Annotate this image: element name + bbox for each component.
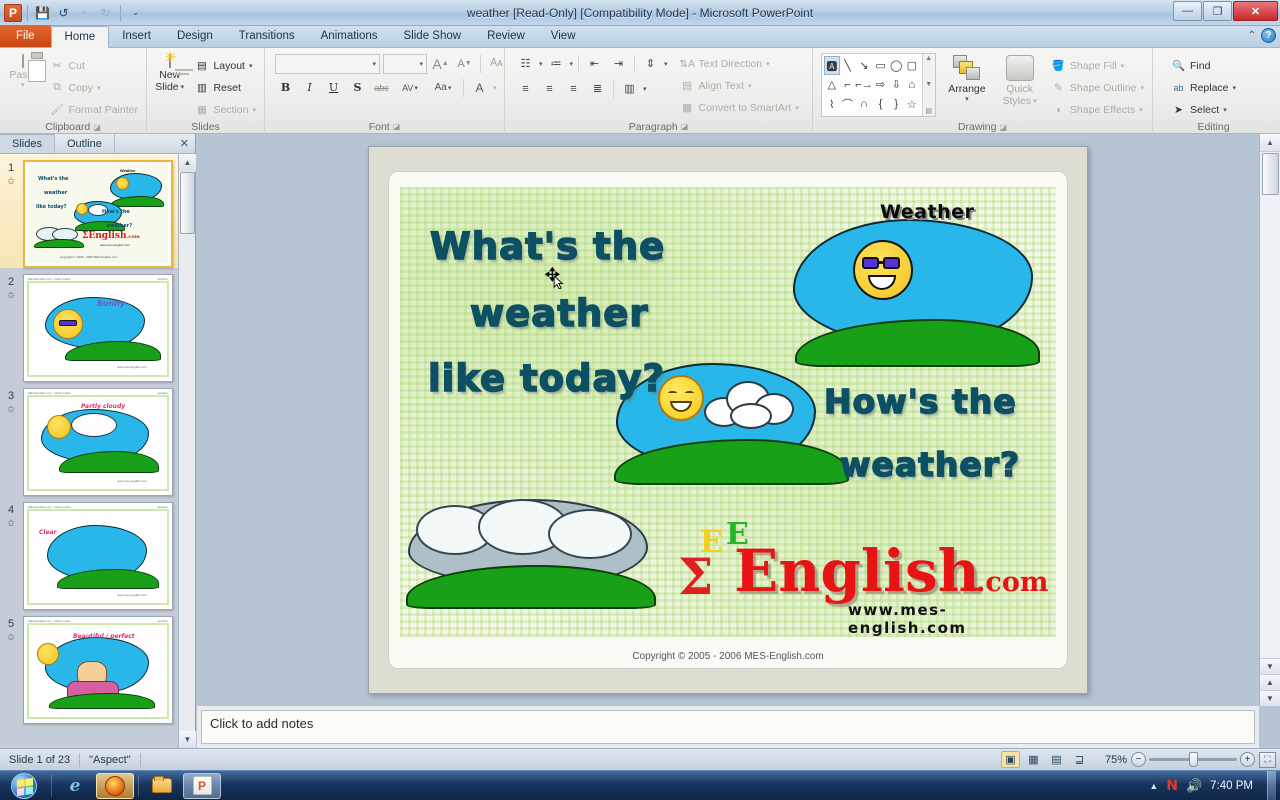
ribbon: Paste ▾ ✂ Cut ⧉ Copy ▾ 🖌 Format <box>0 48 1280 134</box>
font-size-combobox[interactable]: ▾ <box>383 54 427 74</box>
tab-slide-show[interactable]: Slide Show <box>391 25 475 47</box>
section-icon: ▦ <box>194 102 209 117</box>
ribbon-group-font: ▾ ▾ A▲ A▼ 🗛 B I U S abc <box>264 48 504 134</box>
notes-input[interactable]: Click to add notes <box>201 710 1255 744</box>
undo-icon[interactable]: ↺ <box>54 3 73 22</box>
slide-content[interactable]: Weather <box>400 187 1056 637</box>
shape-flowchart-icon[interactable]: ⌂ <box>904 75 920 94</box>
slide-thumbnail-3[interactable]: 3 ✩ MES-English.com - Flash Cardsweather… <box>0 382 179 496</box>
chevron-down-icon[interactable]: ▾ <box>252 106 256 114</box>
ribbon-group-paragraph: ☷ ▾ ≔ ▾ ⇤ ⇥ ⇕ ▾ ≡ ≡ ≡ <box>504 48 812 134</box>
slide-surface[interactable]: Weather <box>388 171 1068 669</box>
chevron-down-icon[interactable]: ▾ <box>21 81 25 89</box>
replace-button[interactable]: ab Replace ▾ <box>1167 77 1240 98</box>
tab-design[interactable]: Design <box>164 25 226 47</box>
white-cloud-icon <box>700 375 800 433</box>
scroll-down-icon[interactable]: ▼ <box>1260 658 1280 674</box>
align-text-icon: ▤ <box>680 78 695 93</box>
reading-view-button[interactable]: ▤ <box>1047 751 1066 768</box>
chevron-down-icon[interactable]: ▾ <box>766 60 770 68</box>
slide-number: 1 <box>8 162 14 174</box>
align-left-button[interactable]: ≡ <box>515 78 536 99</box>
group-label-drawing: Drawing ◪ <box>817 120 1148 134</box>
chevron-down-icon[interactable]: ▾ <box>1233 84 1237 92</box>
font-color-button[interactable]: A <box>469 77 490 98</box>
shapes-gallery-scrollbar[interactable]: ▲ ▼ ▤ <box>922 54 935 116</box>
slides-pane-tabs: Slides Outline ✕ <box>0 134 195 154</box>
save-icon[interactable]: 💾 <box>33 3 52 22</box>
dialog-launcher-icon[interactable]: ◪ <box>999 123 1007 132</box>
internet-explorer-icon: e <box>70 776 81 796</box>
smartart-icon: ▩ <box>680 100 695 115</box>
shape-textbox-icon[interactable]: 🅰 <box>824 56 840 75</box>
dialog-launcher-icon[interactable]: ◪ <box>681 122 689 131</box>
customize-qat-icon[interactable]: ⌄ <box>126 3 145 22</box>
dialog-launcher-icon[interactable]: ◪ <box>93 123 101 132</box>
ribbon-group-clipboard: Paste ▾ ✂ Cut ⧉ Copy ▾ 🖌 Format <box>0 48 146 134</box>
shape-triangle-icon[interactable]: △ <box>824 75 840 94</box>
chevron-down-icon[interactable]: ▾ <box>570 60 574 68</box>
shape-effects-button[interactable]: ◖ Shape Effects ▾ <box>1047 99 1148 120</box>
slide-thumbnail-4[interactable]: 4 ✩ MES-English.com - Flash Cardsweather… <box>0 496 179 610</box>
move-cursor-icon <box>545 267 567 289</box>
thumbnail-meta: 5 ✩ <box>2 616 20 724</box>
slide-subtitle-line-2[interactable]: weather? <box>840 445 1020 484</box>
shapes-gallery[interactable]: 🅰 ╲ ↘ ▭ ◯ ▢ △ ⌐ ⌐→ ⇨ ⇩ ⌂ ⌇ ⌒ ∩ <box>821 53 936 117</box>
show-desktop-button[interactable] <box>1267 771 1276 800</box>
group-label-font: Font ◪ <box>269 119 500 134</box>
slide-title-line-2[interactable]: weather <box>470 292 649 335</box>
status-bar-right: ▣ ▦ ▤ ⊒ 75% − + ⛶ <box>1001 751 1276 768</box>
numbering-button[interactable]: ≔ <box>546 53 567 74</box>
thumbnail-meta: 2 ✩ <box>2 274 20 382</box>
shape-line-icon[interactable]: ╲ <box>840 56 856 75</box>
windows-start-orb-icon <box>11 773 37 799</box>
taskbar-item-windows-explorer[interactable] <box>143 773 181 799</box>
paste-button[interactable]: Paste ▾ <box>4 53 42 89</box>
dialog-launcher-icon[interactable]: ◪ <box>393 122 401 131</box>
thumbnail-meta: 4 ✩ <box>2 502 20 610</box>
mes-english-logo: E E Σ English .com www.mes-english.com <box>676 519 1046 619</box>
group-label-editing: Editing <box>1157 120 1270 134</box>
previous-slide-icon[interactable]: ▲ <box>1260 674 1280 690</box>
group-label-clipboard: Clipboard ◪ <box>4 120 142 134</box>
quick-styles-icon <box>1006 55 1034 81</box>
slide-thumbnail-list: 1 ✩ What's the weather like today? Weath… <box>0 154 179 748</box>
justify-button[interactable]: ≣ <box>587 78 608 99</box>
slide-frame: Weather <box>368 146 1088 694</box>
find-button[interactable]: 🔍 Find <box>1167 55 1240 76</box>
shape-fill-button[interactable]: 🪣 Shape Fill ▾ <box>1047 55 1148 76</box>
strikethrough-button[interactable]: abc <box>371 77 392 98</box>
animation-star-icon: ✩ <box>7 632 15 643</box>
chevron-down-icon[interactable]: ▾ <box>1223 106 1227 114</box>
tab-review[interactable]: Review <box>474 25 538 47</box>
copy-button[interactable]: ⧉ Copy ▾ <box>46 77 142 98</box>
logo-dotcom-text: .com <box>976 567 1048 598</box>
logo-sigma: Σ <box>678 547 713 606</box>
quick-styles-button[interactable]: Quick Styles ▾ <box>998 53 1041 107</box>
tab-animations[interactable]: Animations <box>308 25 391 47</box>
folder-icon <box>152 778 172 793</box>
chevron-down-icon[interactable]: ▾ <box>97 84 101 92</box>
shape-oval-icon[interactable]: ◯ <box>888 56 904 75</box>
cut-button[interactable]: ✂ Cut <box>46 55 142 76</box>
chevron-down-icon[interactable]: ▾ <box>249 62 253 70</box>
copy-icon: ⧉ <box>50 80 65 95</box>
scrollbar-bottom-buttons: ▼ ▲ ▼ <box>1260 658 1280 706</box>
norton-icon[interactable]: N <box>1166 778 1178 794</box>
system-tray: ▲ N 🔊 7:40 PM <box>1149 771 1280 800</box>
undo-dropdown-icon[interactable]: ▾ <box>75 3 94 22</box>
chevron-down-icon[interactable]: ▾ <box>1139 106 1143 114</box>
zoom-level-label[interactable]: 75% <box>1093 754 1127 766</box>
weather-word-label: Weather <box>880 201 974 223</box>
shape-outline-button[interactable]: ✎ Shape Outline ▾ <box>1047 77 1148 98</box>
shape-curve-icon[interactable]: ∩ <box>855 95 872 114</box>
slide-copyright-text: Copyright © 2005 - 2006 MES-English.com <box>389 651 1067 662</box>
cursor-arrow-icon: ➤ <box>1171 102 1186 117</box>
chevron-down-icon[interactable]: ▾ <box>1140 84 1144 92</box>
columns-button[interactable]: ▥ <box>619 78 640 99</box>
pencil-outline-icon: ✎ <box>1051 80 1066 95</box>
slide-thumbnail-5[interactable]: 5 ✩ MES-English.com - Flash Cardsweather… <box>0 610 179 724</box>
close-pane-icon[interactable]: ✕ <box>180 137 189 150</box>
shape-block-arrow-right-icon[interactable]: ⇨ <box>873 75 889 94</box>
text-direction-button[interactable]: ⇅A Text Direction ▾ <box>676 53 803 74</box>
thumbnail-image[interactable]: What's the weather like today? Weather <box>23 160 173 268</box>
animation-star-icon: ✩ <box>7 176 15 187</box>
shape-elbow-connector-icon[interactable]: ⌐ <box>840 75 856 94</box>
shape-left-brace-icon[interactable]: { <box>873 95 889 114</box>
ribbon-group-editing: 🔍 Find ab Replace ▾ ➤ Select ▾ <box>1152 48 1274 134</box>
shape-block-arrow-down-icon[interactable]: ⇩ <box>888 75 904 94</box>
scroll-up-icon[interactable]: ▲ <box>179 154 196 171</box>
scrollbar-thumb[interactable] <box>180 172 195 234</box>
main-vertical-scrollbar[interactable]: ▲ ▼ ▲ ▼ <box>1259 134 1280 706</box>
animation-star-icon: ✩ <box>7 290 15 301</box>
slide-number: 4 <box>8 504 14 516</box>
title-bar: P 💾 ↺ ▾ ↻ ⌄ weather [Read-Only] [Compati… <box>0 0 1280 26</box>
binoculars-icon: 🔍 <box>1171 58 1186 73</box>
logo-english-text: English <box>734 537 980 605</box>
start-button[interactable] <box>0 772 48 800</box>
scroll-up-icon[interactable]: ▲ <box>1260 134 1280 152</box>
slide-thumbnail-2[interactable]: 2 ✩ MES-English.com - Flash Cardsweather… <box>0 268 179 382</box>
theme-name[interactable]: "Aspect" <box>80 749 139 770</box>
paint-bucket-icon: 🪣 <box>1051 58 1066 73</box>
scroll-up-icon[interactable]: ▲ <box>925 55 932 62</box>
scroll-down-icon[interactable]: ▼ <box>925 81 932 88</box>
shape-right-brace-icon[interactable]: } <box>888 95 904 114</box>
taskbar-item-powerpoint[interactable]: P <box>183 773 221 799</box>
increase-indent-button[interactable]: ⇥ <box>608 53 629 74</box>
chevron-down-icon[interactable]: ▾ <box>643 85 647 93</box>
chevron-down-icon[interactable]: ▾ <box>748 82 752 90</box>
volume-icon[interactable]: 🔊 <box>1186 778 1202 794</box>
shape-rectangle-icon[interactable]: ▭ <box>873 56 889 75</box>
bold-button[interactable]: B <box>275 77 296 98</box>
workspace: Slides Outline ✕ 1 ✩ What's the weather <box>0 134 1280 748</box>
tab-file[interactable]: File <box>0 25 51 47</box>
align-text-button[interactable]: ▤ Align Text ▾ <box>676 75 803 96</box>
help-icon[interactable]: ? <box>1261 28 1276 43</box>
group-label-slides: Slides <box>151 120 260 134</box>
notes-pane: Click to add notes <box>197 706 1259 748</box>
slide-number: 3 <box>8 390 14 402</box>
zoom-slider-handle[interactable] <box>1189 752 1198 767</box>
thumbnail-image[interactable]: MES-English.com - Flash Cardsweather Sun… <box>23 274 173 382</box>
section-button[interactable]: ▦ Section ▾ <box>190 99 260 120</box>
tab-insert[interactable]: Insert <box>109 25 164 47</box>
animation-star-icon: ✩ <box>7 518 15 529</box>
divider <box>120 5 121 21</box>
change-case-button[interactable]: Aa▾ <box>428 77 458 98</box>
format-painter-button[interactable]: 🖌 Format Painter <box>46 99 142 120</box>
powerpoint-window: P 💾 ↺ ▾ ↻ ⌄ weather [Read-Only] [Compati… <box>0 0 1280 800</box>
scroll-down-icon[interactable]: ▼ <box>179 731 196 748</box>
slides-pane-scrollbar[interactable]: ▲ ▼ <box>178 154 195 748</box>
chevron-down-icon[interactable]: ▾ <box>1121 62 1125 70</box>
quick-access-toolbar: P 💾 ↺ ▾ ↻ ⌄ <box>0 0 145 25</box>
animation-star-icon: ✩ <box>7 404 15 415</box>
layout-button[interactable]: ▤ Layout ▾ <box>190 55 260 76</box>
redo-icon[interactable]: ↻ <box>96 3 115 22</box>
arrange-icon <box>953 55 981 81</box>
normal-view-button[interactable]: ▣ <box>1001 751 1020 768</box>
fit-slide-to-window-button[interactable]: ⛶ <box>1259 752 1276 768</box>
window-controls: — ❐ ✕ <box>1173 1 1278 21</box>
italic-button[interactable]: I <box>299 77 320 98</box>
shape-freeform-icon[interactable]: ⌇ <box>824 95 840 114</box>
layout-icon: ▤ <box>194 58 209 73</box>
chevron-down-icon[interactable]: ▾ <box>539 60 543 68</box>
close-button[interactable]: ✕ <box>1233 1 1278 21</box>
shape-elbow-arrow-icon[interactable]: ⌐→ <box>855 75 872 94</box>
taskbar-item-internet-explorer[interactable]: e <box>56 773 94 799</box>
chevron-down-icon[interactable]: ▾ <box>493 84 497 92</box>
font-name-combobox[interactable]: ▾ <box>275 54 380 74</box>
slide-subtitle-line-1[interactable]: How's the <box>824 382 1017 421</box>
scissors-icon: ✂ <box>50 58 65 73</box>
taskbar-item-firefox[interactable] <box>96 773 134 799</box>
slide-title-line-1[interactable]: What's the <box>430 225 665 268</box>
slide-sorter-view-button[interactable]: ▦ <box>1024 751 1043 768</box>
slide-counter[interactable]: Slide 1 of 23 <box>0 749 79 770</box>
grow-font-button[interactable]: A▲ <box>430 53 451 74</box>
thumbnail-image[interactable]: MES-English.com - Flash Cardsweather Cle… <box>23 502 173 610</box>
divider <box>27 5 28 21</box>
powerpoint-icon: P <box>193 776 212 795</box>
zoom-slider[interactable]: − + <box>1131 752 1255 767</box>
ribbon-group-slides: ✳ New Slide ▾ ▤ Layout ▾ <box>146 48 264 134</box>
scrollbar-thumb[interactable] <box>1262 153 1279 195</box>
slide-number: 2 <box>8 276 14 288</box>
new-slide-icon: ✳ <box>169 55 171 67</box>
reset-button[interactable]: ▥ Reset <box>190 77 260 98</box>
collapse-ribbon-icon[interactable]: ⌃ <box>1248 30 1256 41</box>
chevron-down-icon[interactable]: ▾ <box>372 60 376 68</box>
shape-arrow-icon[interactable]: ↘ <box>855 56 872 75</box>
restore-button[interactable]: ❐ <box>1203 1 1232 21</box>
shrink-font-button[interactable]: A▼ <box>454 53 475 74</box>
arrange-button[interactable]: Arrange ▾ <box>942 53 993 103</box>
thumbnail-meta: 3 ✩ <box>2 388 20 496</box>
shape-arc-icon[interactable]: ⌒ <box>840 95 856 114</box>
effects-icon: ◖ <box>1051 102 1066 117</box>
next-slide-icon[interactable]: ▼ <box>1260 690 1280 706</box>
taskbar: e P ▲ N 🔊 7:40 PM <box>0 770 1280 800</box>
zoom-out-button[interactable]: − <box>1131 752 1146 767</box>
character-spacing-button[interactable]: AV▾ <box>395 77 425 98</box>
zoom-track[interactable] <box>1149 758 1237 761</box>
tab-slides[interactable]: Slides <box>0 134 55 153</box>
slide-title-line-3[interactable]: like today? <box>428 357 665 400</box>
taskbar-clock[interactable]: 7:40 PM <box>1210 780 1259 792</box>
decrease-indent-button[interactable]: ⇤ <box>584 53 605 74</box>
window-title: weather [Read-Only] [Compatibility Mode]… <box>0 6 1280 20</box>
new-slide-button[interactable]: ✳ New Slide ▾ <box>151 53 188 93</box>
convert-to-smartart-button[interactable]: ▩ Convert to SmartArt ▾ <box>676 97 803 118</box>
logo-url-text: www.mes-english.com <box>848 601 1046 637</box>
slide-number: 5 <box>8 618 14 630</box>
thumbnail-image[interactable]: MES-English.com - Flash Cardsweather Par… <box>23 388 173 496</box>
slide-thumbnail-1[interactable]: 1 ✩ What's the weather like today? Weath… <box>0 154 179 268</box>
group-label-paragraph: Paragraph ◪ <box>509 119 808 134</box>
powerpoint-logo-icon[interactable]: P <box>4 4 22 22</box>
paste-icon <box>22 55 24 67</box>
chevron-down-icon[interactable]: ▾ <box>419 60 423 68</box>
chevron-down-icon[interactable]: ▾ <box>664 60 668 68</box>
tab-transitions[interactable]: Transitions <box>226 25 308 47</box>
ribbon-tabs: File Home Insert Design Transitions Anim… <box>0 26 1280 48</box>
chevron-down-icon[interactable]: ▾ <box>1033 97 1037 105</box>
status-bar: Slide 1 of 23 "Aspect" ▣ ▦ ▤ ⊒ 75% − + ⛶ <box>0 748 1280 770</box>
firefox-icon <box>105 776 125 796</box>
shape-rounded-rectangle-icon[interactable]: ▢ <box>904 56 920 75</box>
slides-pane: Slides Outline ✕ 1 ✩ What's the weather <box>0 134 196 748</box>
cloud-puff-icon <box>548 509 632 559</box>
line-spacing-button[interactable]: ⇕ <box>640 53 661 74</box>
bullets-button[interactable]: ☷ <box>515 53 536 74</box>
tab-home[interactable]: Home <box>51 26 110 48</box>
underline-button[interactable]: U <box>323 77 344 98</box>
text-shadow-button[interactable]: S <box>347 77 368 98</box>
select-button[interactable]: ➤ Select ▾ <box>1167 99 1240 120</box>
sun-with-sunglasses-icon <box>840 227 926 313</box>
shape-star-icon[interactable]: ☆ <box>904 95 920 114</box>
align-center-button[interactable]: ≡ <box>539 78 560 99</box>
show-hidden-icons-icon[interactable]: ▲ <box>1149 781 1158 791</box>
thumbnail-image[interactable]: MES-English.com - Flash Cardsweather Bea… <box>23 616 173 724</box>
ribbon-group-drawing: 🅰 ╲ ↘ ▭ ◯ ▢ △ ⌐ ⌐→ ⇨ ⇩ ⌂ ⌇ ⌒ ∩ <box>812 48 1152 134</box>
thumbnail-meta: 1 ✩ <box>2 160 20 268</box>
paintbrush-icon: 🖌 <box>50 102 65 117</box>
chevron-down-icon[interactable]: ▾ <box>181 83 185 91</box>
chevron-down-icon[interactable]: ▾ <box>795 104 799 112</box>
replace-icon: ab <box>1171 80 1186 95</box>
reset-icon: ▥ <box>194 80 209 95</box>
sunglasses-icon <box>862 257 904 269</box>
ribbon-help-area: ⌃ ? <box>1248 28 1276 43</box>
align-right-button[interactable]: ≡ <box>563 78 584 99</box>
minimize-button[interactable]: — <box>1173 1 1202 21</box>
tab-view[interactable]: View <box>538 25 589 47</box>
zoom-in-button[interactable]: + <box>1240 752 1255 767</box>
slide-edit-area[interactable]: Weather <box>197 134 1259 706</box>
tab-outline[interactable]: Outline <box>55 134 115 153</box>
slide-show-view-button[interactable]: ⊒ <box>1070 751 1089 768</box>
text-direction-icon: ⇅A <box>680 56 695 71</box>
more-shapes-icon[interactable]: ▤ <box>925 107 932 115</box>
chevron-down-icon[interactable]: ▾ <box>965 95 969 103</box>
